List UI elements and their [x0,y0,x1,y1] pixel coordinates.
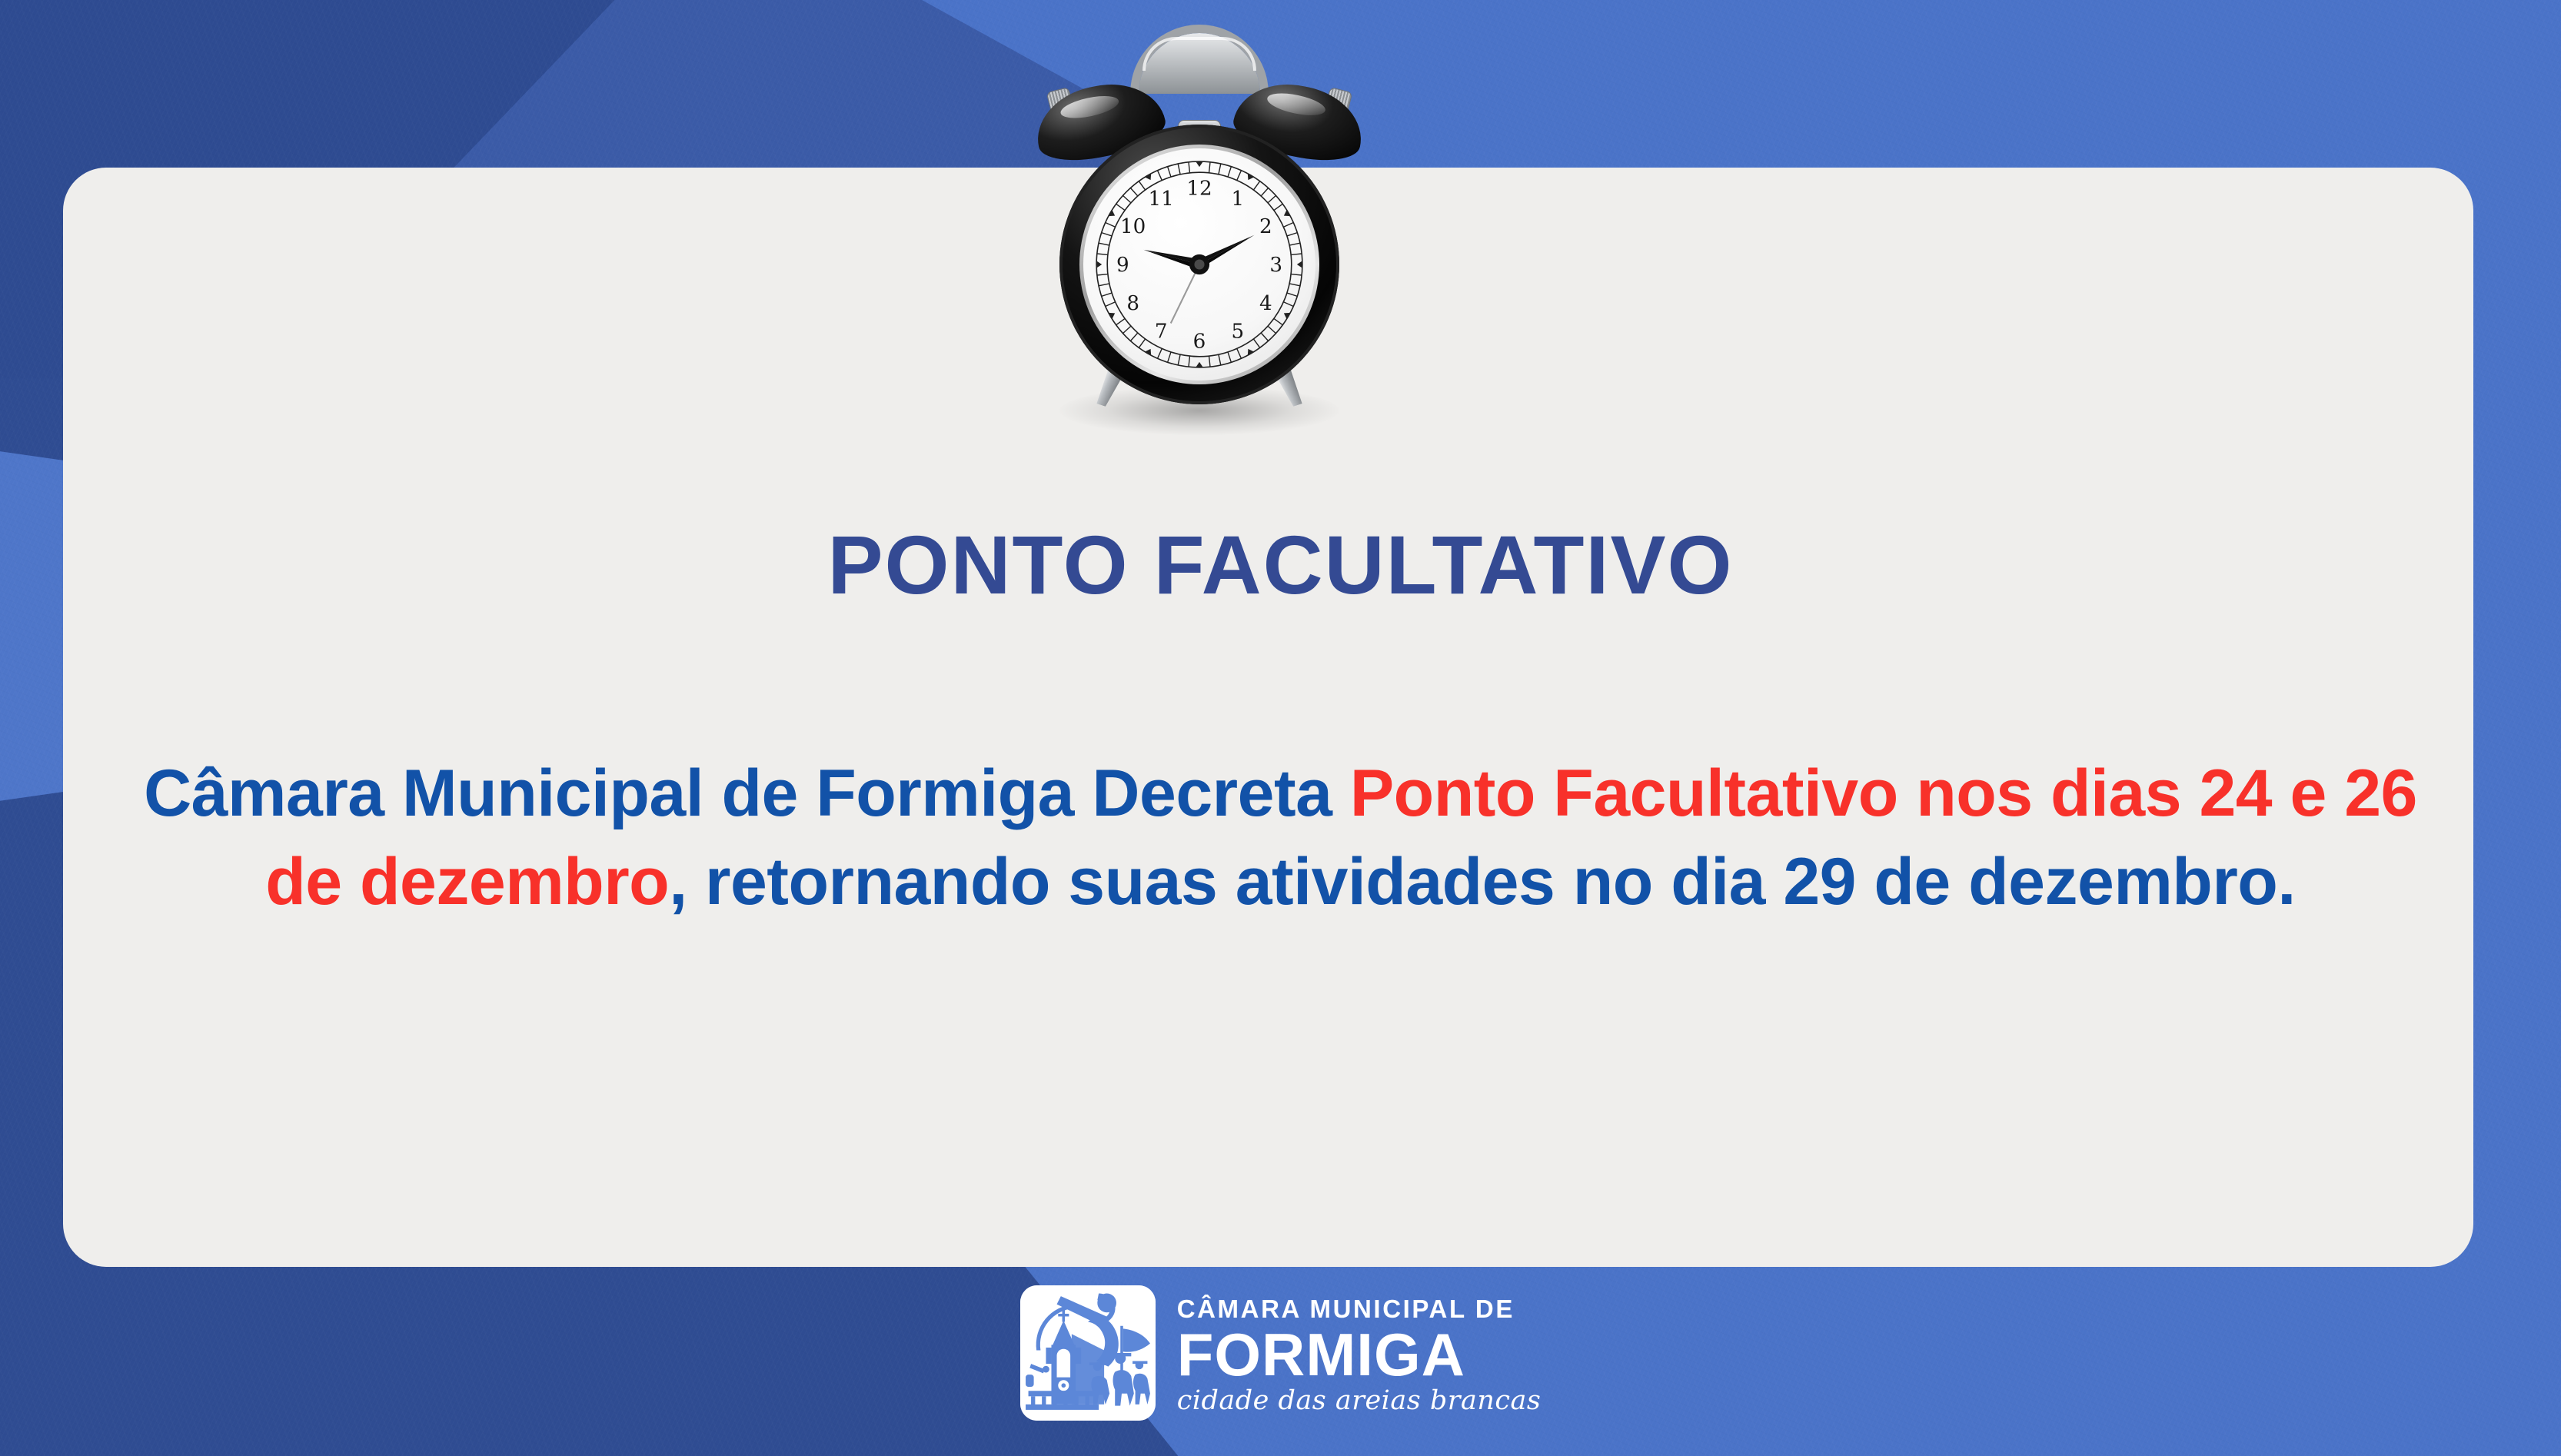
camara-municipal-logo: CÂMARA MUNICIPAL DE FORMIGA cidade das a… [0,1285,2561,1421]
clock-face-svg: 123456789101112 [1083,148,1315,381]
coat-of-arms-svg [1020,1285,1156,1421]
svg-text:10: 10 [1120,215,1146,238]
logo-tagline: cidade das areias brancas [1177,1388,1542,1414]
svg-text:11: 11 [1149,188,1174,211]
clock-case: 123456789101112 [1059,125,1339,404]
svg-text:7: 7 [1155,320,1168,343]
logo-line-camara: CÂMARA MUNICIPAL DE [1177,1296,1542,1321]
clock-bezel: 123456789101112 [1079,145,1319,384]
clock-handle [1130,25,1269,94]
logo-wordmark: CÂMARA MUNICIPAL DE FORMIGA cidade das a… [1177,1285,1542,1414]
alarm-clock-icon: 123456789101112 [1023,15,1376,446]
svg-text:12: 12 [1186,177,1212,200]
svg-text:2: 2 [1259,215,1272,238]
svg-text:6: 6 [1193,331,1206,354]
logo-line-formiga: FORMIGA [1177,1325,1542,1386]
body-segment-2 [1898,756,1916,830]
clock-face: 123456789101112 [1083,148,1315,381]
svg-text:8: 8 [1126,292,1139,315]
svg-text:5: 5 [1232,320,1245,343]
page-title: PONTO FACULTATIVO [0,517,2561,613]
svg-text:9: 9 [1116,254,1129,277]
body-segment-4: , retornando suas atividades no dia 29 d… [669,845,2296,919]
announcement-body: Câmara Municipal de Formiga Decreta Pont… [115,750,2446,926]
svg-text:1: 1 [1232,188,1245,211]
body-segment-1: Ponto Facultativo [1350,756,1898,830]
svg-text:4: 4 [1259,292,1272,315]
body-segment-0: Câmara Municipal de Formiga Decreta [144,756,1350,830]
formiga-coat-of-arms-icon [1020,1285,1156,1421]
svg-text:3: 3 [1269,254,1282,277]
